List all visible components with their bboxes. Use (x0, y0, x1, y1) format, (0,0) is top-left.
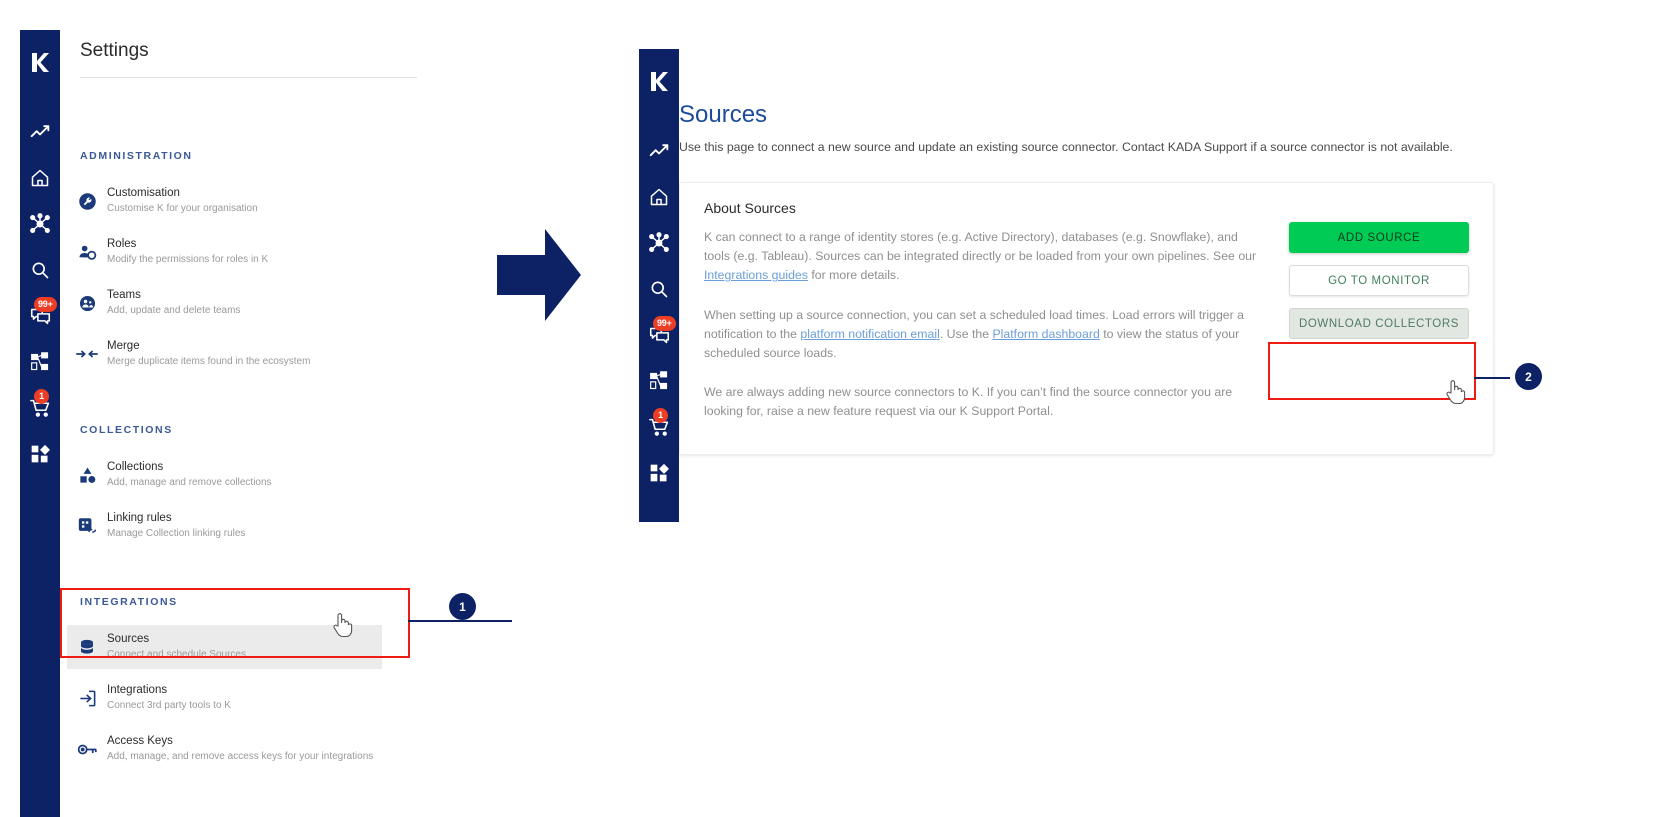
download-collectors-button[interactable]: DOWNLOAD COLLECTORS (1289, 308, 1469, 339)
k-logo-icon[interactable] (20, 45, 60, 79)
settings-panel: Settings ADMINISTRATION Customisation Cu… (60, 30, 580, 817)
about-paragraph-1: K can connect to a range of identity sto… (704, 228, 1264, 286)
sidebar-item-description: Merge duplicate items found in the ecosy… (107, 355, 310, 370)
key-icon (67, 741, 107, 758)
sitemap-icon (30, 352, 50, 372)
sidebar-item-label: Sources (107, 632, 246, 648)
section-heading-administration: ADMINISTRATION (80, 150, 193, 162)
sidebar-item-description: Add, manage and remove collections (107, 476, 272, 491)
rail-item-trends[interactable] (639, 132, 679, 170)
sidebar-item-label: Merge (107, 339, 310, 355)
sidebar-item-access-keys[interactable]: Access Keys Add, manage, and remove acce… (67, 727, 382, 771)
sources-page-description: Use this page to connect a new source an… (679, 138, 1469, 157)
sidebar-item-description: Add, update and delete teams (107, 304, 240, 319)
page-title: Settings (80, 40, 149, 62)
cart-badge: 1 (34, 389, 49, 404)
inner-nav-rail: 99+ 1 (639, 49, 679, 522)
network-nodes-icon (648, 232, 670, 254)
home-icon (30, 168, 50, 188)
about-sources-body: K can connect to a range of identity sto… (704, 228, 1264, 441)
sidebar-item-description: Modify the permissions for roles in K (107, 253, 268, 268)
section-heading-integrations: INTEGRATIONS (80, 596, 178, 608)
sidebar-item-label: Integrations (107, 683, 231, 699)
rail-item-hierarchy[interactable] (20, 343, 60, 381)
rail-item-search[interactable] (20, 251, 60, 289)
sidebar-item-label: Teams (107, 288, 240, 304)
integrations-guides-link[interactable]: Integrations guides (704, 268, 808, 282)
sidebar-item-merge[interactable]: Merge Merge duplicate items found in the… (67, 332, 382, 376)
sidebar-item-roles[interactable]: Roles Modify the permissions for roles i… (67, 230, 382, 274)
sources-page-title: Sources (679, 101, 1539, 129)
flow-arrow-icon (493, 225, 585, 330)
about-paragraph-2: When setting up a source connection, you… (704, 306, 1264, 364)
sidebar-item-label: Roles (107, 237, 268, 253)
search-icon (649, 279, 669, 299)
home-icon (649, 187, 669, 207)
about-sources-actions: ADD SOURCE GO TO MONITOR DOWNLOAD COLLEC… (1289, 222, 1469, 339)
sidebar-item-label: Collections (107, 460, 272, 476)
rail-item-network[interactable] (639, 224, 679, 262)
sidebar-item-description: Manage Collection linking rules (107, 527, 245, 542)
rail-item-apps[interactable] (20, 435, 60, 473)
rail-item-hierarchy[interactable] (639, 362, 679, 400)
dashboard-grid-icon (649, 463, 669, 483)
sidebar-item-description: Connect 3rd party tools to K (107, 699, 231, 714)
sidebar-item-sources[interactable]: Sources Connect and schedule Sources (67, 625, 382, 669)
go-to-monitor-button[interactable]: GO TO MONITOR (1289, 265, 1469, 296)
about-paragraph-3: We are always adding new source connecto… (704, 383, 1264, 421)
cart-badge: 1 (653, 408, 668, 423)
rail-item-messages[interactable]: 99+ (20, 297, 60, 335)
shapes-icon (67, 466, 107, 485)
rail-item-search[interactable] (639, 270, 679, 308)
paragraph-text: . Use the (940, 327, 993, 341)
dashboard-grid-icon (30, 444, 50, 464)
about-sources-heading: About Sources (704, 200, 796, 216)
teams-icon (67, 294, 107, 313)
k-logo-icon[interactable] (639, 64, 679, 98)
trending-up-icon (30, 122, 50, 142)
sitemap-icon (649, 371, 669, 391)
sidebar-item-integrations[interactable]: Integrations Connect 3rd party tools to … (67, 676, 382, 720)
sidebar-item-customisation[interactable]: Customisation Customise K for your organ… (67, 179, 382, 223)
rail-item-home[interactable] (20, 159, 60, 197)
sidebar-item-description: Customise K for your organisation (107, 202, 258, 217)
messages-badge: 99+ (34, 297, 57, 312)
platform-dashboard-link[interactable]: Platform dashboard (992, 327, 1099, 341)
messages-badge: 99+ (653, 316, 676, 331)
sidebar-item-label: Customisation (107, 186, 258, 202)
paragraph-text: K can connect to a range of identity sto… (704, 230, 1256, 263)
sidebar-item-description: Add, manage, and remove access keys for … (107, 750, 373, 765)
sidebar-item-description: Connect and schedule Sources (107, 648, 246, 663)
linking-rules-icon (67, 517, 107, 536)
annotation-marker-1: 1 (449, 593, 476, 620)
screenshot-canvas: 99+ 1 Settings ADMINISTRATION (0, 0, 1659, 817)
search-icon (30, 260, 50, 280)
rail-item-trends[interactable] (20, 113, 60, 151)
wrench-circle-icon (67, 192, 107, 211)
sidebar-item-teams[interactable]: Teams Add, update and delete teams (67, 281, 382, 325)
paragraph-text: for more details. (808, 268, 900, 282)
annotation-leader-line-2 (1474, 377, 1510, 379)
database-icon (67, 638, 107, 657)
sidebar-item-label: Access Keys (107, 734, 373, 750)
title-divider (80, 77, 417, 78)
annotation-leader-line-1 (408, 620, 512, 622)
sidebar-item-linking-rules[interactable]: Linking rules Manage Collection linking … (67, 504, 382, 548)
platform-notification-email-link[interactable]: platform notification email (800, 327, 939, 341)
rail-item-cart[interactable]: 1 (20, 389, 60, 427)
section-heading-collections: COLLECTIONS (80, 424, 173, 436)
rail-item-network[interactable] (20, 205, 60, 243)
rail-item-cart[interactable]: 1 (639, 408, 679, 446)
rail-item-messages[interactable]: 99+ (639, 316, 679, 354)
rail-item-home[interactable] (639, 178, 679, 216)
sources-page: Sources Use this page to connect a new s… (679, 49, 1539, 455)
sidebar-item-label: Linking rules (107, 511, 245, 527)
integrations-arrow-icon (67, 689, 107, 708)
add-source-button[interactable]: ADD SOURCE (1289, 222, 1469, 253)
annotation-marker-2: 2 (1515, 363, 1542, 390)
paragraph-text: We are always adding new source connecto… (704, 385, 1232, 418)
rail-item-apps[interactable] (639, 454, 679, 492)
about-sources-card: About Sources K can connect to a range o… (679, 182, 1494, 455)
sidebar-item-collections[interactable]: Collections Add, manage and remove colle… (67, 453, 382, 497)
roles-gear-icon (67, 243, 107, 262)
left-nav-rail: 99+ 1 (20, 30, 60, 817)
network-nodes-icon (29, 213, 51, 235)
trending-up-icon (649, 141, 669, 161)
merge-arrows-icon (67, 347, 107, 361)
